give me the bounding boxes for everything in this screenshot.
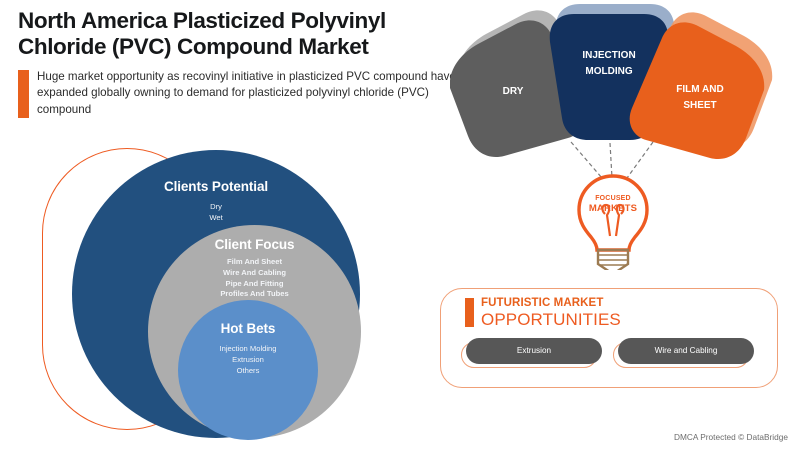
list-item: Pipe And Fitting: [148, 279, 361, 290]
circle-outer-items: Dry Wet: [72, 202, 360, 224]
circle-middle-label: Client Focus: [148, 237, 361, 252]
accent-bar: [18, 70, 29, 118]
pill-label[interactable]: Extrusion: [466, 338, 602, 364]
list-item: Injection Molding: [178, 344, 318, 355]
circle-inner-label: Hot Bets: [178, 321, 318, 336]
bulb-label-line2: MARKETS: [589, 203, 637, 214]
opportunity-pill-wire-and-cabling[interactable]: Wire and Cabling: [613, 338, 749, 368]
opportunity-pill-extrusion[interactable]: Extrusion: [461, 338, 597, 368]
circle-middle-items: Film And Sheet Wire And Cabling Pipe And…: [148, 257, 361, 300]
connector-line-film: [627, 142, 653, 178]
connector-line-injection: [610, 143, 612, 178]
list-item: Wire And Cabling: [148, 268, 361, 279]
film-petal-label-line2: SHEET: [683, 100, 716, 111]
pill-label[interactable]: Wire and Cabling: [618, 338, 754, 364]
circle-outer-label: Clients Potential: [72, 179, 360, 194]
injection-petal-label-line1: INJECTION: [582, 50, 635, 61]
list-item: Dry: [72, 202, 360, 213]
injection-petal-label-line2: MOLDING: [585, 66, 632, 77]
futuristic-market-opportunities-panel: FUTURISTIC MARKET OPPORTUNITIES Extrusio…: [440, 288, 778, 388]
connector-line-dry: [571, 142, 602, 178]
list-item: Film And Sheet: [148, 257, 361, 268]
film-petal-label-line1: FILM AND: [676, 84, 723, 95]
opportunity-pill-row: Extrusion Wire and Cabling: [461, 338, 777, 368]
list-item: Others: [178, 366, 318, 377]
footer-copyright: DMCA Protected © DataBridge: [674, 432, 788, 442]
circle-hot-bets: Hot Bets Injection Molding Extrusion Oth…: [178, 300, 318, 440]
list-item: Profiles And Tubes: [148, 289, 361, 300]
lightbulb-icon: FOCUSED MARKETS: [579, 176, 647, 270]
accent-bar: [465, 298, 474, 327]
header: North America Plasticized Polyvinyl Chlo…: [18, 8, 468, 118]
page-subtitle: Huge market opportunity as recovinyl ini…: [37, 69, 468, 118]
opportunities-titles: FUTURISTIC MARKET OPPORTUNITIES: [481, 298, 621, 328]
subtitle-block: Huge market opportunity as recovinyl ini…: [18, 69, 468, 118]
page-title: North America Plasticized Polyvinyl Chlo…: [18, 8, 468, 61]
list-item: Extrusion: [178, 355, 318, 366]
bulb-label-line1: FOCUSED: [595, 195, 631, 202]
opportunities-header: FUTURISTIC MARKET OPPORTUNITIES: [465, 298, 777, 328]
opportunities-title: OPPORTUNITIES: [481, 311, 621, 328]
opportunities-kicker: FUTURISTIC MARKET: [481, 298, 621, 310]
focused-markets-diagram: DRY INJECTION MOLDING FILM AND SHEET FOC…: [450, 0, 800, 270]
concentric-circles-diagram: Clients Potential Dry Wet Client Focus F…: [20, 140, 400, 440]
circle-inner-items: Injection Molding Extrusion Others: [178, 344, 318, 376]
dry-petal-label: DRY: [503, 86, 524, 97]
list-item: Wet: [72, 213, 360, 224]
